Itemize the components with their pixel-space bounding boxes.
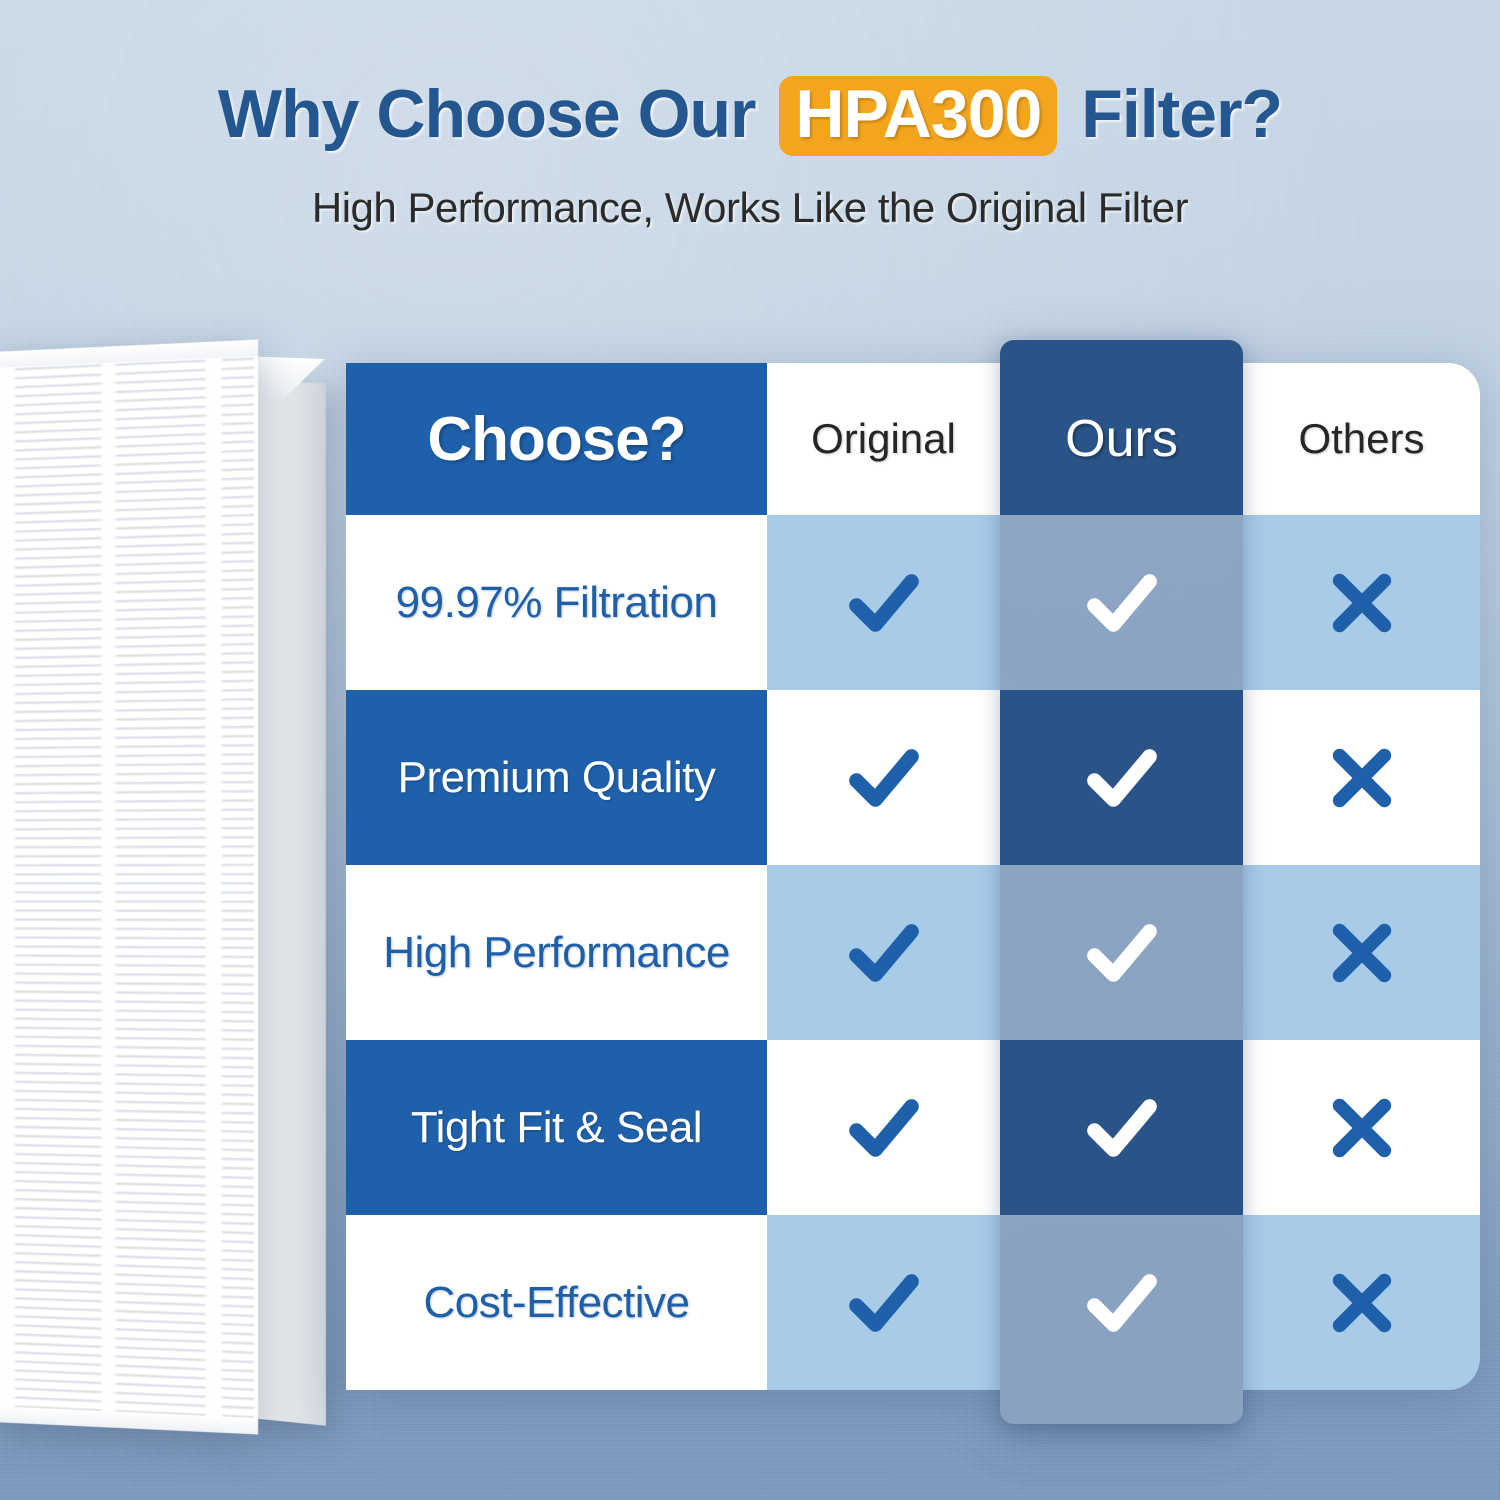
title-part-one: Why Choose Our [218,76,756,152]
check-icon [841,910,927,996]
row-feature-cell: Tight Fit & Seal [346,1040,767,1215]
header-choose-cell: Choose? [346,363,767,515]
check-icon [1079,1260,1165,1346]
cross-icon [1322,1263,1402,1343]
header-ours-label: Ours [1000,363,1243,515]
table-row: Premium Quality [346,690,1480,865]
ours-cell-mark [1000,865,1243,1040]
title-part-two: Filter? [1081,76,1282,152]
cross-icon [1322,1088,1402,1168]
row-feature-cell: Premium Quality [346,690,767,865]
row-feature-label: High Performance [383,928,730,978]
row-others-cell [1243,1215,1480,1390]
cross-icon [1322,563,1402,643]
comparison-table: Choose? Original Others 99.97% Filtratio… [346,363,1480,1390]
page-subtitle: High Performance, Works Like the Origina… [0,184,1500,232]
check-icon [1079,1085,1165,1171]
cross-icon [1322,913,1402,993]
cross-icon [1322,738,1402,818]
ours-cell-mark [1000,515,1243,690]
ours-cell-mark [1000,690,1243,865]
row-others-cell [1243,1040,1480,1215]
table-row: Cost-Effective [346,1215,1480,1390]
header-others-cell: Others [1243,363,1480,515]
row-original-cell [767,690,1000,865]
check-icon [841,1085,927,1171]
row-others-cell [1243,515,1480,690]
table-row: High Performance [346,865,1480,1040]
row-feature-cell: 99.97% Filtration [346,515,767,690]
row-feature-label: 99.97% Filtration [396,578,718,628]
check-icon [841,735,927,821]
row-feature-label: Cost-Effective [423,1278,689,1328]
row-original-cell [767,515,1000,690]
check-icon [1079,910,1165,996]
row-feature-cell: Cost-Effective [346,1215,767,1390]
check-icon [841,1260,927,1346]
check-icon [841,560,927,646]
filter-front-face [0,340,258,1435]
header-original-cell: Original [767,363,1000,515]
row-others-cell [1243,690,1480,865]
ours-cell-mark [1000,1040,1243,1215]
hepa-filter-photo [0,332,332,1452]
check-icon [1079,735,1165,821]
ours-footer-segment [1000,1390,1243,1424]
table-header-row: Choose? Original Others [346,363,1480,515]
filter-side-face [250,382,326,1426]
row-others-cell [1243,865,1480,1040]
heading-block: Why Choose Our HPA300 Filter? High Perfo… [0,76,1500,232]
row-original-cell [767,865,1000,1040]
row-original-cell [767,1215,1000,1390]
hpa300-badge: HPA300 [779,76,1057,156]
table-body: Choose? Original Others 99.97% Filtratio… [346,363,1480,1390]
row-original-cell [767,1040,1000,1215]
filter-support-ribs [0,340,258,1435]
page-title: Why Choose Our HPA300 Filter? [0,76,1500,156]
row-feature-label: Tight Fit & Seal [411,1103,702,1153]
table-row: 99.97% Filtration [346,515,1480,690]
row-feature-cell: High Performance [346,865,767,1040]
check-icon [1079,560,1165,646]
table-row: Tight Fit & Seal [346,1040,1480,1215]
ours-cell-mark [1000,1215,1243,1390]
row-feature-label: Premium Quality [398,753,716,803]
